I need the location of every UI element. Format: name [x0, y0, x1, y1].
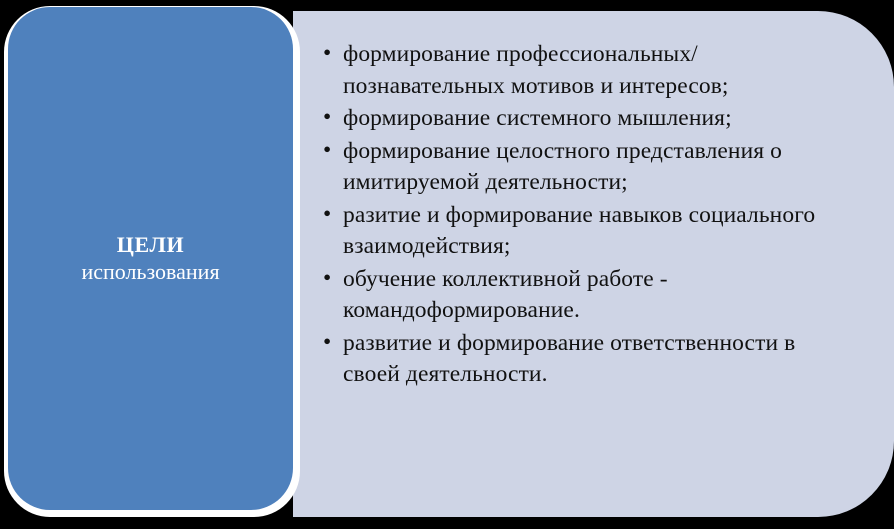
list-item: • разитие и формирование навыков социаль…	[323, 200, 823, 263]
label-box-subtitle: использования	[81, 258, 219, 286]
bullet-icon: •	[323, 263, 331, 295]
bullet-icon: •	[323, 102, 331, 134]
list-item: • обучение коллективной работе - командо…	[323, 264, 823, 327]
label-box-title: ЦЕЛИ	[117, 231, 184, 258]
bullet-icon: •	[323, 135, 331, 167]
list-item: • формирование системного мышления;	[323, 103, 823, 135]
bullet-icon: •	[323, 327, 331, 359]
slide-canvas: • формирование профессиональных/познават…	[0, 0, 894, 529]
list-item: • формирование целостного представления …	[323, 136, 823, 199]
label-box: ЦЕЛИ использования	[8, 7, 293, 510]
list-item-text: разитие и формирование навыков социально…	[343, 202, 815, 260]
goals-bullet-list: • формирование профессиональных/познават…	[323, 39, 823, 392]
list-item-text: обучение коллективной работе - командофо…	[343, 266, 668, 324]
content-panel: • формирование профессиональных/познават…	[293, 11, 894, 517]
list-item-text: формирование профессиональных/познавател…	[343, 41, 729, 99]
list-item-text: развитие и формирование ответственности …	[343, 330, 795, 388]
list-item-text: формирование целостного представления о …	[343, 138, 782, 196]
list-item-text: формирование системного мышления;	[343, 105, 732, 131]
list-item: • формирование профессиональных/познават…	[323, 39, 823, 102]
list-item: • развитие и формирование ответственност…	[323, 328, 823, 391]
bullet-icon: •	[323, 199, 331, 231]
bullet-icon: •	[323, 38, 331, 70]
